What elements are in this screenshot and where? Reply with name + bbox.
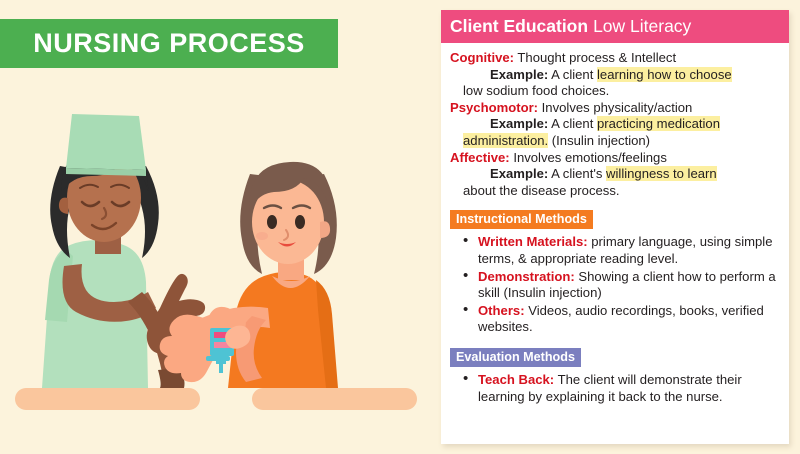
client-figure	[160, 162, 338, 388]
list-item-term: Teach Back:	[478, 372, 554, 387]
domain-definition: Involves physicality/action	[542, 100, 693, 115]
instructional-methods-badge: Instructional Methods	[450, 210, 593, 229]
evaluation-methods-badge: Evaluation Methods	[450, 348, 581, 367]
example-highlight: willingness to learn	[606, 166, 717, 181]
example-label: Example:	[490, 116, 548, 131]
example-highlight: practicing medication	[597, 116, 720, 131]
domain-definition: Thought process & Intellect	[517, 50, 676, 65]
example-label: Example:	[490, 67, 548, 82]
domain-psychomotor-example: Example: A client practicing medication	[450, 116, 780, 133]
domain-affective-example: Example: A client's willingness to learn	[450, 166, 780, 183]
client-eye-right	[295, 215, 305, 229]
instructional-methods-section: Instructional Methods Written Materials:…	[450, 210, 780, 336]
list-item: Written Materials: primary language, usi…	[450, 234, 780, 267]
card-body: Cognitive: Thought process & Intellect E…	[441, 43, 789, 405]
client-blush	[256, 232, 268, 240]
left-panel: NURSING PROCESS	[0, 0, 432, 454]
instructional-methods-list: Written Materials: primary language, usi…	[450, 234, 780, 336]
list-item: Demonstration: Showing a client how to p…	[450, 269, 780, 302]
page-title: NURSING PROCESS	[33, 28, 305, 59]
list-item-term: Others:	[478, 303, 525, 318]
nursing-process-banner: NURSING PROCESS	[0, 19, 338, 68]
card-header-subtitle: Low Literacy	[593, 16, 691, 37]
floor-bar-left	[15, 388, 200, 410]
example-highlight: learning how to choose	[597, 67, 732, 82]
domain-psychomotor-example-cont: administration. (Insulin injection)	[450, 133, 780, 150]
domain-cognitive: Cognitive: Thought process & Intellect	[450, 50, 780, 67]
example-pre: A client	[551, 116, 597, 131]
illustration	[0, 70, 432, 410]
domain-cognitive-example: Example: A client learning how to choose	[450, 67, 780, 84]
example-highlight-2: administration.	[463, 133, 548, 148]
domain-affective: Affective: Involves emotions/feelings	[450, 150, 780, 167]
list-item: Others: Videos, audio recordings, books,…	[450, 303, 780, 336]
list-item: Teach Back: The client will demonstrate …	[450, 372, 780, 405]
domain-affective-example-cont: about the disease process.	[450, 183, 780, 200]
card-header-title: Client Education	[450, 16, 588, 37]
illustration-svg	[0, 70, 432, 410]
card-header: Client Education Low Literacy	[441, 10, 789, 43]
domain-term: Psychomotor:	[450, 100, 538, 115]
example-post: low sodium food choices.	[463, 83, 609, 98]
domain-cognitive-example-cont: low sodium food choices.	[450, 83, 780, 100]
example-pre: A client's	[551, 166, 606, 181]
client-eye-left	[267, 215, 277, 229]
example-pre: A client	[551, 67, 597, 82]
example-label: Example:	[490, 166, 548, 181]
domain-term: Affective:	[450, 150, 510, 165]
floor-bar-right	[252, 388, 417, 410]
example-post: about the disease process.	[463, 183, 620, 198]
list-item-term: Demonstration:	[478, 269, 575, 284]
slide-canvas: NURSING PROCESS	[0, 0, 800, 454]
nurse-cap	[66, 114, 146, 170]
evaluation-methods-list: Teach Back: The client will demonstrate …	[450, 372, 780, 405]
domain-definition: Involves emotions/feelings	[513, 150, 667, 165]
list-item-term: Written Materials:	[478, 234, 588, 249]
example-post: (Insulin injection)	[552, 133, 650, 148]
evaluation-methods-section: Evaluation Methods Teach Back: The clien…	[450, 348, 780, 405]
domain-psychomotor: Psychomotor: Involves physicality/action	[450, 100, 780, 117]
domain-term: Cognitive:	[450, 50, 514, 65]
client-education-card: Client Education Low Literacy Cognitive:…	[441, 10, 789, 444]
